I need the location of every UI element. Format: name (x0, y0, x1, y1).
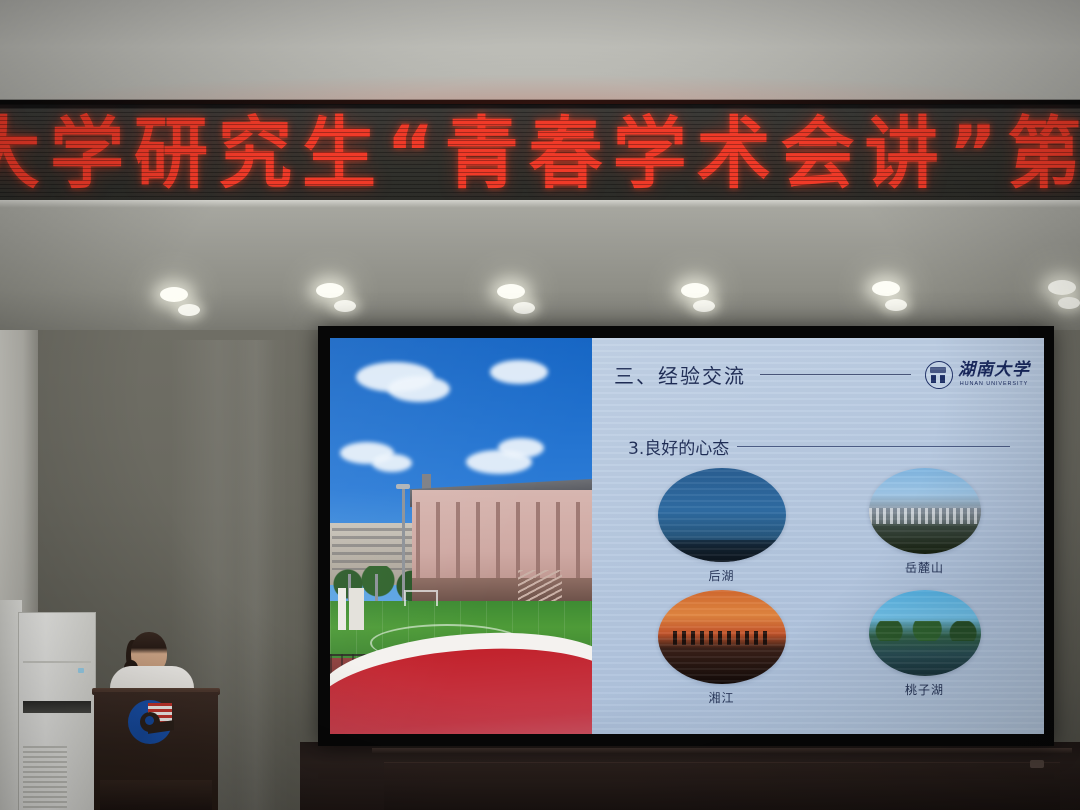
led-banner-text: 大学研究生“青春学术会讲”第 (0, 115, 1080, 193)
wainscot-knob (1030, 760, 1044, 768)
title-rule (760, 374, 911, 375)
ac-intake-grill (23, 746, 67, 808)
photo-caption: 岳麓山 (905, 559, 944, 576)
emblem-dot (145, 716, 154, 725)
slide-section-title: 三、经验交流 (614, 360, 746, 389)
podium-base (100, 780, 212, 810)
photo-cell: 桃子湖 (823, 590, 1026, 706)
photo-caption: 桃子湖 (905, 681, 944, 698)
ceiling-downlight-icon (885, 299, 907, 311)
wainscot-rail (372, 748, 1072, 754)
ceiling-downlight-icon (316, 283, 344, 298)
ceiling-downlight-icon (872, 281, 900, 296)
led-banner-surface: 大学研究生“青春学术会讲”第 (0, 108, 1080, 200)
ceiling-downlight-icon (334, 300, 356, 312)
university-name-cn: 湖南大学 (958, 362, 1030, 379)
podium-emblem-icon (128, 700, 172, 744)
photo-cell: 后湖 (620, 468, 823, 584)
photo-xiang-river (658, 590, 786, 684)
ceiling-downlight-icon (693, 300, 715, 312)
ceiling-downlight-icon (497, 284, 525, 299)
photo-houhu-lake (658, 468, 786, 562)
slide-subsection-title: 3.良好的心态 (628, 434, 729, 459)
ac-seam (23, 661, 91, 663)
ceiling-lip (0, 200, 1080, 208)
photo-yuelu-mountain (869, 468, 981, 554)
ceiling-downlight-icon (513, 302, 535, 314)
ceiling-downlight-icon (160, 287, 188, 302)
ac-vent-band (23, 701, 91, 713)
gym-staircase (518, 570, 562, 604)
subtitle-rule (737, 446, 1010, 447)
ceiling-downlight-icon (681, 283, 709, 298)
pole-lamp-icon (396, 484, 410, 489)
photo-caption: 湘江 (708, 689, 734, 706)
wall-light-streak (236, 340, 276, 810)
ceiling-downlight-icon (1058, 297, 1080, 309)
slide-subheader: 3.良好的心态 (628, 434, 1010, 459)
university-name-en: HUNAN UNIVERSITY (960, 382, 1029, 388)
air-conditioner-unit (18, 612, 96, 810)
photo-grid: 后湖 岳麓山 湘江 桃子湖 (620, 468, 1026, 706)
projection-screen: 三、经验交流 湖南大学 HUNAN UNIVERSITY 3.良好的心态 后湖 (330, 338, 1044, 734)
university-seal-icon (925, 361, 953, 389)
wainscot-panel (384, 762, 1060, 810)
ac-indicator-icon (78, 668, 84, 673)
ceiling-downlight-icon (178, 304, 200, 316)
gym-columns (416, 502, 586, 580)
photo-caption: 后湖 (708, 567, 734, 584)
upper-wall (0, 0, 1080, 104)
slide-header: 三、经验交流 湖南大学 HUNAN UNIVERSITY (614, 360, 1030, 389)
background-building-windows (332, 528, 412, 570)
slide-content-panel: 三、经验交流 湖南大学 HUNAN UNIVERSITY 3.良好的心态 后湖 (592, 338, 1044, 734)
photo-cell: 岳麓山 (823, 468, 1026, 584)
photo-cell: 湘江 (620, 590, 823, 706)
university-logo: 湖南大学 HUNAN UNIVERSITY (925, 361, 1030, 389)
photo-taozi-lake (869, 590, 981, 676)
light-pole (402, 486, 405, 602)
ceiling-downlight-icon (1048, 280, 1076, 295)
slide-left-photo (330, 338, 592, 734)
led-banner: 大学研究生“青春学术会讲”第 (0, 100, 1080, 209)
field-banners (338, 588, 364, 630)
light-pole (375, 574, 378, 604)
lecture-hall-photo: 大学研究生“青春学术会讲”第 (0, 0, 1080, 810)
soccer-goal (404, 590, 438, 606)
